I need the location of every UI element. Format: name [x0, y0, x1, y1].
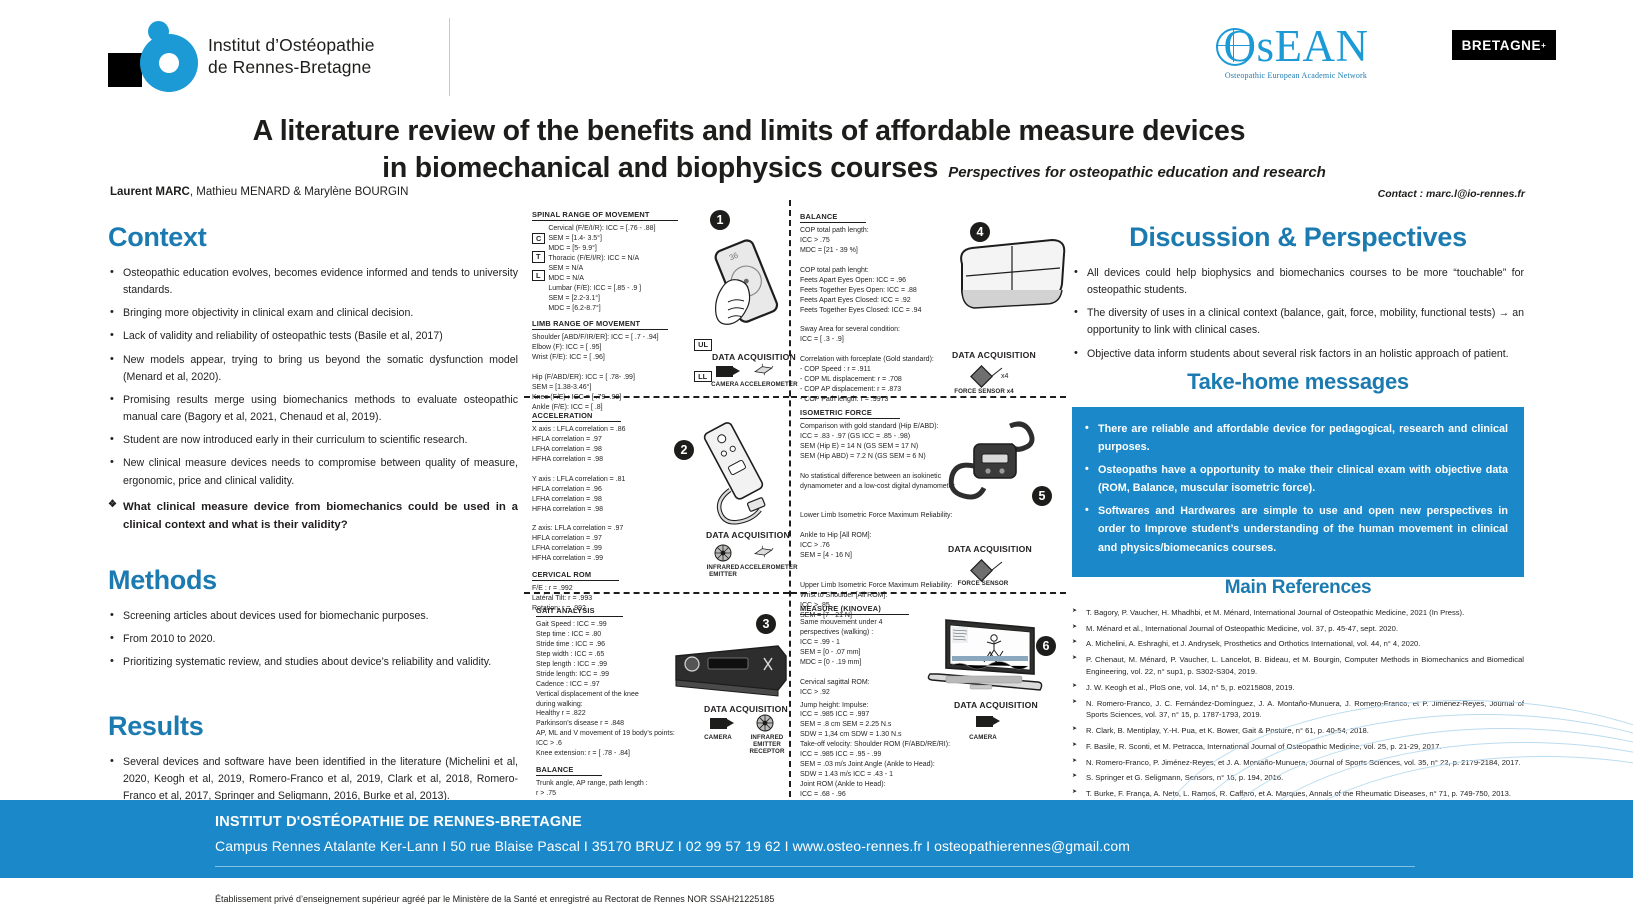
list-item: Student are now introduced early in thei…: [108, 432, 518, 449]
kinect-sensor-illustration: [672, 640, 790, 700]
panel-3-device-1-label: CAMERA: [696, 734, 740, 741]
list-item: Promising results merge using biomechani…: [108, 392, 518, 426]
list-item: Osteopathic education evolves, becomes e…: [108, 265, 518, 299]
list-item: All devices could help biophysics and bi…: [1072, 265, 1524, 299]
panel-3-badge: 3: [756, 614, 776, 634]
takehome-heading: Take-home messages: [1072, 369, 1524, 395]
list-item: Objective data inform students about sev…: [1072, 346, 1524, 363]
panel-2-section-1-body: X axis : LFLA correlation = .86 HFLA cor…: [532, 425, 692, 564]
osean-logo: OsEAN Osteopathic European Academic Netw…: [1196, 24, 1396, 80]
research-question: What clinical measure device from biomec…: [108, 498, 518, 535]
takehome-box: There are reliable and affordable device…: [1072, 407, 1524, 577]
list-item: Lack of validity and reliability of oste…: [108, 328, 518, 345]
panel-1-content: SPINAL RANGE OF MOVEMENT C T L Cervical …: [532, 204, 712, 413]
panel-3-section-1-head: GAIT ANALYSIS: [536, 606, 623, 617]
footer-bar: INSTITUT D'OSTÉOPATHIE DE RENNES-BRETAGN…: [0, 800, 1633, 878]
results-heading: Results: [108, 711, 518, 742]
institute-logo-icon: [104, 21, 208, 93]
methods-heading: Methods: [108, 565, 518, 596]
title-subtitle: Perspectives for osteopathic education a…: [948, 164, 1326, 181]
panel-2-section-2-head: CERVICAL ROM: [532, 570, 619, 581]
list-item: There are reliable and affordable device…: [1082, 420, 1508, 456]
methods-section: Methods Screening articles about devices…: [108, 565, 518, 671]
panel-6-section-2-body: Jump height: Impulse: ICC = .985 ICC = .…: [800, 701, 996, 800]
tag-lumbar: L: [532, 270, 545, 281]
context-heading: Context: [108, 222, 518, 253]
panel-6-acquisition-label: DATA ACQUISITION: [954, 700, 1038, 710]
list-item: The diversity of uses in a clinical cont…: [1072, 305, 1524, 339]
panel-3-section-2-body: Trunk angle, AP range, path length : r >…: [536, 779, 708, 799]
force-sensor-icon: x4: [970, 364, 1014, 388]
laptop-kinovea-illustration: [924, 612, 1046, 712]
svg-text:x4: x4: [1001, 373, 1009, 380]
panel-2-badge: 2: [674, 440, 694, 460]
figure-1: SPINAL RANGE OF MOVEMENT C T L Cervical …: [524, 200, 1066, 797]
institute-logo: Institut d’Ostéopathie de Rennes-Bretagn…: [104, 18, 450, 96]
osean-subtitle: Osteopathic European Academic Network: [1196, 71, 1396, 80]
tag-thoracic: T: [532, 251, 545, 262]
panel-5-section-head: ISOMETRIC FORCE: [800, 408, 900, 419]
reference-item: M. Ménard et al., International Journal …: [1072, 623, 1524, 634]
reference-item: A. Michelini, A. Eshraghi, et J. Andryse…: [1072, 638, 1524, 649]
list-item: New models appear, trying to bring us be…: [108, 352, 518, 386]
bretagne-logo: BRETAGNE+: [1452, 30, 1556, 60]
logo-band: Institut d’Ostéopathie de Rennes-Bretagn…: [0, 0, 1633, 112]
author-primary: Laurent MARC: [110, 186, 190, 198]
title-line-2: in biomechanical and biophysics courses: [382, 152, 938, 185]
panel-1-section-1-head: SPINAL RANGE OF MOVEMENT: [532, 210, 678, 221]
reference-item: P. Chenaut, M. Ménard, P. Vaucher, L. La…: [1072, 654, 1524, 677]
decorative-swoosh: [1113, 690, 1633, 800]
panel-5-device-label: FORCE SENSOR: [952, 580, 1014, 587]
globe-icon: [1216, 28, 1254, 66]
smartphone-inclinometer-illustration: 36: [712, 230, 790, 350]
reference-item: T. Bagory, P. Vaucher, H. Mhadhbi, et M.…: [1072, 607, 1524, 618]
accelerometer-icon: [752, 545, 774, 558]
footer-title: INSTITUT D'OSTÉOPATHIE DE RENNES-BRETAGN…: [215, 814, 582, 830]
discussion-list: All devices could help biophysics and bi…: [1072, 265, 1524, 363]
institute-logo-line1: Institut d’Ostéopathie: [208, 35, 375, 57]
panel-3-section-2-head: BALANCE: [536, 765, 602, 776]
title-line-1: A literature review of the benefits and …: [104, 115, 1524, 148]
tag-cervical: C: [532, 233, 545, 244]
panel-2-acquisition-label: DATA ACQUISITION: [706, 530, 790, 540]
infrared-receptor-icon: [756, 714, 774, 732]
list-item: Several devices and software have been i…: [108, 754, 518, 805]
camera-icon: [710, 718, 727, 729]
panel-2-content: ACCELERATION X axis : LFLA correlation =…: [532, 405, 692, 614]
panel-2-section-1-head: ACCELERATION: [532, 411, 621, 422]
panel-1-device-2-label: ACCELEROMETER: [740, 381, 794, 388]
panel-1-acquisition-label: DATA ACQUISITION: [712, 352, 796, 362]
footer-legal-note: Établissement privé d’enseignement supér…: [215, 894, 774, 904]
panel-3-device-2-label: INFRARED EMITTER RECEPTOR: [744, 734, 790, 755]
infrared-emitter-icon: [714, 544, 732, 562]
wii-balance-board-illustration: [956, 238, 1068, 316]
left-column: Context Osteopathic education evolves, b…: [108, 222, 518, 835]
panel-4-section-head: BALANCE: [800, 212, 866, 223]
digital-dynamometer-illustration: [940, 420, 1046, 506]
panel-5-acquisition-label: DATA ACQUISITION: [948, 544, 1032, 554]
institute-logo-text: Institut d’Ostéopathie de Rennes-Bretagn…: [208, 35, 375, 79]
force-sensor-icon: [970, 558, 1006, 582]
context-list: Osteopathic education evolves, becomes e…: [108, 265, 518, 535]
accelerometer-icon: [752, 363, 774, 376]
panel-4-acquisition-label: DATA ACQUISITION: [952, 350, 1036, 360]
panel-1-section-2-head: LIMB RANGE OF MOVEMENT: [532, 319, 668, 330]
footer-divider: [215, 866, 1415, 867]
panel-1-badge: 1: [710, 210, 730, 230]
list-item: From 2010 to 2020.: [108, 631, 518, 648]
list-item: Prioritizing systematic review, and stud…: [108, 654, 518, 671]
author-list: Laurent MARC, Mathieu MENARD & Marylène …: [110, 186, 408, 198]
list-item: Bringing more objectivity in clinical ex…: [108, 305, 518, 322]
bretagne-label: BRETAGNE: [1462, 38, 1542, 53]
panel-3-acquisition-label: DATA ACQUISITION: [704, 704, 788, 714]
tag-upper-limb: UL: [694, 339, 712, 350]
panel-3-content: GAIT ANALYSIS Gait Speed : ICC = .99 Ste…: [536, 600, 708, 829]
logo-ring-shape: [140, 34, 198, 92]
list-item: Osteopaths have a opportunity to make th…: [1082, 461, 1508, 497]
panel-6-section-1-head: MEASURE (KINOVEA): [800, 604, 909, 615]
panel-1-device-1-label: CAMERA: [706, 381, 744, 388]
poster-title: A literature review of the benefits and …: [104, 115, 1524, 185]
logo-square-shape: [108, 53, 142, 87]
list-item: New clinical measure devices needs to co…: [108, 455, 518, 489]
panel-4-device-label: FORCE SENSOR x4: [954, 388, 1014, 395]
takehome-list: There are reliable and affordable device…: [1082, 420, 1508, 557]
methods-list: Screening articles about devices used fo…: [108, 608, 518, 671]
contact-info: Contact : marc.l@io-rennes.fr: [1378, 188, 1525, 200]
footer-contact-line: Campus Rennes Atalante Ker-Lann I 50 rue…: [215, 838, 1130, 854]
list-item: Screening articles about devices used fo…: [108, 608, 518, 625]
poster-canvas: Institut d’Ostéopathie de Rennes-Bretagn…: [0, 0, 1633, 918]
institute-logo-line2: de Rennes-Bretagne: [208, 57, 375, 79]
camera-icon: [716, 366, 733, 377]
panel-1-section-2-body: Shoulder [ABD/F/IR/ER]: ICC = [ .7 - .94…: [532, 333, 691, 413]
list-item: Softwares and Hardwares are simple to us…: [1082, 502, 1508, 556]
references-heading: Main References: [1072, 577, 1524, 599]
wii-remote-illustration: [696, 416, 791, 526]
panel-6-device-label: CAMERA: [960, 734, 1006, 741]
discussion-heading: Discussion & Perspectives: [1072, 222, 1524, 253]
camera-icon: [976, 716, 993, 727]
author-others: , Mathieu MENARD & Marylène BOURGIN: [190, 186, 409, 198]
panel-2-device-2-label: ACCELEROMETER: [740, 564, 794, 571]
panel-1-section-1-body: Cervical (F/E/I/R): ICC = [.76 - .88] SE…: [548, 224, 655, 313]
